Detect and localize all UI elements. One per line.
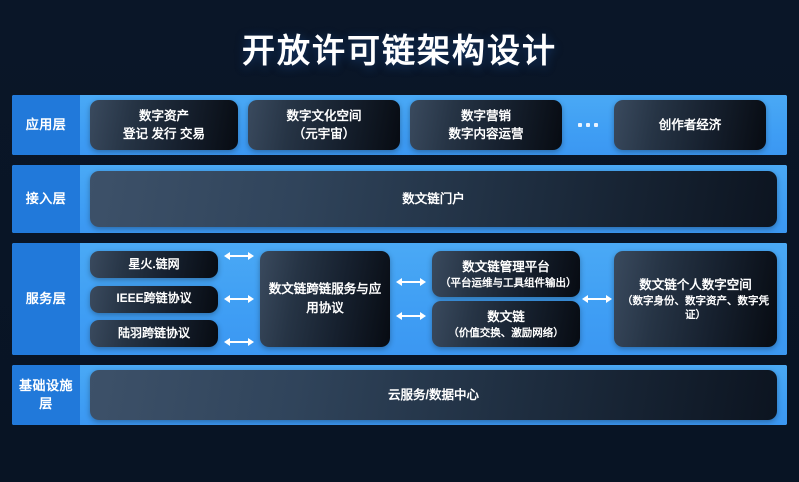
card-title: 数文链管理平台 xyxy=(462,258,550,276)
double-arrow-icon xyxy=(396,277,426,287)
card-subtitle: （数字身份、数字资产、数字凭证） xyxy=(622,294,769,322)
ellipsis-dot xyxy=(586,123,590,127)
access-card-portal[interactable]: 数文链门户 xyxy=(90,171,777,227)
layer-label-access: 接入层 xyxy=(12,165,80,233)
layer-row-infrastructure: 基础设施层 云服务/数据中心 xyxy=(12,365,787,425)
card-subtitle: 数字内容运营 xyxy=(448,125,523,143)
layer-row-service: 服务层 星火.链网 IEEE跨链协议 陆羽跨链协议 xyxy=(12,243,787,355)
layer-body-access: 数文链门户 xyxy=(80,165,787,233)
card-title: 数文链个人数字空间 xyxy=(639,276,752,294)
layer-stack: 应用层 数字资产 登记 发行 交易 数字文化空间 （元宇宙） 数字营销 数字内容… xyxy=(0,95,799,425)
card-title: 数文链跨链服务与应用协议 xyxy=(268,280,382,318)
service-card-shuwen-chain[interactable]: 数文链 （价值交换、激励网络） xyxy=(432,301,580,347)
double-arrow-icon xyxy=(224,294,254,304)
card-title: 创作者经济 xyxy=(659,116,722,134)
layer-label-service: 服务层 xyxy=(12,243,80,355)
layer-body-application: 数字资产 登记 发行 交易 数字文化空间 （元宇宙） 数字营销 数字内容运营 xyxy=(80,95,787,155)
page-title: 开放许可链架构设计 xyxy=(242,24,557,72)
card-title: 数文链 xyxy=(487,308,525,326)
double-arrow-icon xyxy=(582,294,612,304)
layer-label-application: 应用层 xyxy=(12,95,80,155)
infra-card-cloud-datacenter[interactable]: 云服务/数据中心 xyxy=(90,370,777,420)
card-subtitle: （元宇宙） xyxy=(293,125,356,143)
ellipsis-dot xyxy=(594,123,598,127)
app-card-creator-economy[interactable]: 创作者经济 xyxy=(614,100,766,150)
card-subtitle: 登记 发行 交易 xyxy=(123,125,205,143)
title-bar: 开放许可链架构设计 xyxy=(0,0,799,95)
service-card-management-platform[interactable]: 数文链管理平台 （平台运维与工具组件输出） xyxy=(432,251,580,297)
service-card-luyu-crosschain-protocol[interactable]: 陆羽跨链协议 xyxy=(90,320,218,347)
app-card-digital-asset[interactable]: 数字资产 登记 发行 交易 xyxy=(90,100,238,150)
service-middle-column: 数文链管理平台 （平台运维与工具组件输出） 数文链 （价值交换、激励网络） xyxy=(432,251,580,347)
service-center-column: 数文链跨链服务与应用协议 xyxy=(260,251,390,347)
service-protocol-column: 星火.链网 IEEE跨链协议 陆羽跨链协议 xyxy=(90,251,218,347)
architecture-diagram: 开放许可链架构设计 应用层 数字资产 登记 发行 交易 数字文化空间 （元宇宙）… xyxy=(0,0,799,482)
layer-body-infrastructure: 云服务/数据中心 xyxy=(80,365,787,425)
ellipsis-dot xyxy=(578,123,582,127)
double-arrow-icon xyxy=(396,311,426,321)
double-arrow-icon xyxy=(224,251,254,261)
layer-row-application: 应用层 数字资产 登记 发行 交易 数字文化空间 （元宇宙） 数字营销 数字内容… xyxy=(12,95,787,155)
arrow-group-middle-to-right xyxy=(580,251,614,347)
card-title: 星火.链网 xyxy=(128,256,179,273)
arrow-group-protocols-to-center xyxy=(218,251,260,347)
service-right-column: 数文链个人数字空间 （数字身份、数字资产、数字凭证） xyxy=(614,251,777,347)
layer-label-infrastructure: 基础设施层 xyxy=(12,365,80,425)
arrow-group-center-to-middle xyxy=(390,251,432,347)
ellipsis-icon xyxy=(572,123,604,127)
card-subtitle: （价值交换、激励网络） xyxy=(448,326,564,340)
service-card-personal-digital-space[interactable]: 数文链个人数字空间 （数字身份、数字资产、数字凭证） xyxy=(614,251,777,347)
service-card-ieee-crosschain-protocol[interactable]: IEEE跨链协议 xyxy=(90,286,218,313)
card-title: 云服务/数据中心 xyxy=(388,386,479,404)
double-arrow-icon xyxy=(224,337,254,347)
app-card-digital-marketing[interactable]: 数字营销 数字内容运营 xyxy=(410,100,562,150)
card-title: 数字营销 xyxy=(461,107,511,125)
card-title: 数字文化空间 xyxy=(286,107,361,125)
card-title: 陆羽跨链协议 xyxy=(118,325,190,342)
service-card-crosschain-service-protocol[interactable]: 数文链跨链服务与应用协议 xyxy=(260,251,390,347)
card-title: IEEE跨链协议 xyxy=(116,290,191,307)
layer-body-service: 星火.链网 IEEE跨链协议 陆羽跨链协议 xyxy=(80,243,787,355)
card-subtitle: （平台运维与工具组件输出） xyxy=(440,276,572,290)
service-card-xinghuo-chain[interactable]: 星火.链网 xyxy=(90,251,218,278)
layer-row-access: 接入层 数文链门户 xyxy=(12,165,787,233)
card-title: 数文链门户 xyxy=(402,190,465,208)
app-card-digital-culture-space[interactable]: 数字文化空间 （元宇宙） xyxy=(248,100,400,150)
card-title: 数字资产 xyxy=(139,107,189,125)
